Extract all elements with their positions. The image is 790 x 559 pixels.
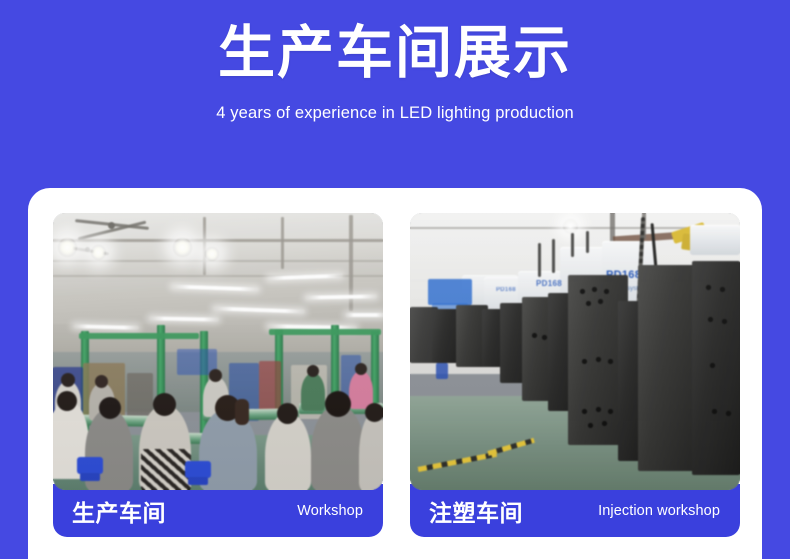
page-subtitle: 4 years of experience in LED lighting pr… — [0, 104, 790, 123]
panel-workshop[interactable]: 生产车间 Workshop — [53, 213, 383, 537]
content-card: 生产车间 Workshop — [28, 188, 762, 559]
injection-scene: PD168 Servo system PD168 PD168 — [410, 213, 740, 490]
page-header: 生产车间展示 4 years of experience in LED ligh… — [0, 0, 790, 123]
caption-en-injection: Injection workshop — [598, 503, 720, 519]
caption-cn-injection: 注塑车间 — [429, 494, 523, 528]
assembly-workshop-photo[interactable] — [53, 213, 383, 490]
caption-en-workshop: Workshop — [297, 503, 363, 519]
injection-workshop-photo[interactable]: PD168 Servo system PD168 PD168 — [410, 213, 740, 490]
panel-list: 生产车间 Workshop — [53, 213, 740, 537]
caption-cn-workshop: 生产车间 — [72, 494, 166, 528]
page-title: 生产车间展示 — [0, 24, 790, 84]
panel-injection-workshop[interactable]: PD168 Servo system PD168 PD168 — [410, 213, 740, 537]
workshop-scene — [53, 213, 383, 490]
caption-bar-workshop: 生产车间 Workshop — [53, 484, 383, 537]
caption-bar-injection: 注塑车间 Injection workshop — [410, 484, 740, 537]
